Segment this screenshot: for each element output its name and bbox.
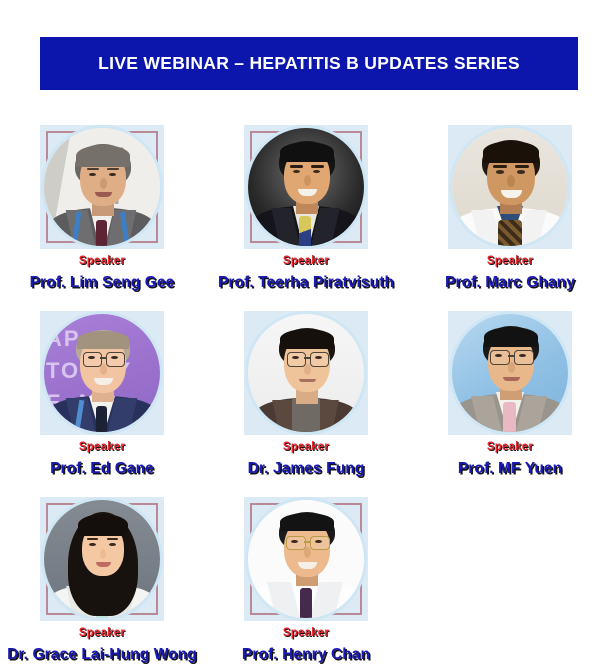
speaker-card-grace-lai-hung-wong[interactable]: Speaker Dr. Grace Lai-Hung Wong — [0, 482, 204, 668]
speaker-photo-frame — [40, 497, 164, 621]
speaker-role-label: Speaker — [283, 627, 329, 640]
speaker-card-lim-seng-gee[interactable]: F 7 9 — [0, 110, 204, 296]
speaker-name: Prof. Lim Seng Gee — [30, 274, 175, 291]
speaker-card-james-fung[interactable]: Speaker Dr. James Fung — [204, 296, 408, 482]
speaker-photo-frame — [244, 497, 368, 621]
portrait-marc-ghany — [452, 128, 568, 246]
portrait-mf-yuen — [452, 314, 568, 432]
speaker-name: Prof. Henry Chan — [242, 646, 370, 663]
speaker-role-label: Speaker — [79, 441, 125, 454]
portrait-teerha-piratvisuth — [248, 128, 364, 246]
speaker-role-label: Speaker — [79, 255, 125, 268]
speaker-card-marc-ghany[interactable]: Speaker Prof. Marc Ghany — [408, 110, 612, 296]
speaker-name: Dr. James Fung — [248, 460, 365, 477]
webinar-banner: LIVE WEBINAR – HEPATITIS B UPDATES SERIE… — [40, 37, 578, 90]
portrait-james-fung — [248, 314, 364, 432]
speaker-photo-frame — [448, 125, 572, 249]
speaker-card-teerha-piratvisuth[interactable]: Speaker Prof. Teerha Piratvisuth — [204, 110, 408, 296]
speaker-role-label: Speaker — [487, 441, 533, 454]
speaker-card-ed-gane[interactable]: AP E TO GY E NC — [0, 296, 204, 482]
speaker-name: Prof. MF Yuen — [458, 460, 562, 477]
speaker-name: Prof. Ed Gane — [50, 460, 154, 477]
speaker-card-mf-yuen[interactable]: Speaker Prof. MF Yuen — [408, 296, 612, 482]
portrait-henry-chan — [248, 500, 364, 618]
speaker-card-henry-chan[interactable]: Speaker Prof. Henry Chan — [204, 482, 408, 668]
speaker-row: Speaker Dr. Grace Lai-Hung Wong — [0, 482, 612, 668]
portrait-ed-gane: AP E TO GY E NC — [44, 314, 160, 432]
speaker-photo-frame — [244, 311, 368, 435]
speaker-row: F 7 9 — [0, 110, 612, 296]
portrait-grace-lai-hung-wong — [44, 500, 160, 618]
speaker-name: Prof. Teerha Piratvisuth — [218, 274, 394, 291]
speaker-grid: F 7 9 — [0, 110, 612, 668]
speaker-row: AP E TO GY E NC — [0, 296, 612, 482]
portrait-lim-seng-gee: F 7 9 — [44, 128, 160, 246]
speaker-photo-frame — [244, 125, 368, 249]
speaker-name: Prof. Marc Ghany — [445, 274, 575, 291]
speaker-role-label: Speaker — [487, 255, 533, 268]
page-title: LIVE WEBINAR – HEPATITIS B UPDATES SERIE… — [98, 53, 520, 74]
speaker-photo-frame: F 7 9 — [40, 125, 164, 249]
speaker-name: Dr. Grace Lai-Hung Wong — [7, 646, 197, 663]
speaker-role-label: Speaker — [283, 441, 329, 454]
speaker-photo-frame: AP E TO GY E NC — [40, 311, 164, 435]
speaker-role-label: Speaker — [79, 627, 125, 640]
speaker-role-label: Speaker — [283, 255, 329, 268]
speaker-photo-frame — [448, 311, 572, 435]
